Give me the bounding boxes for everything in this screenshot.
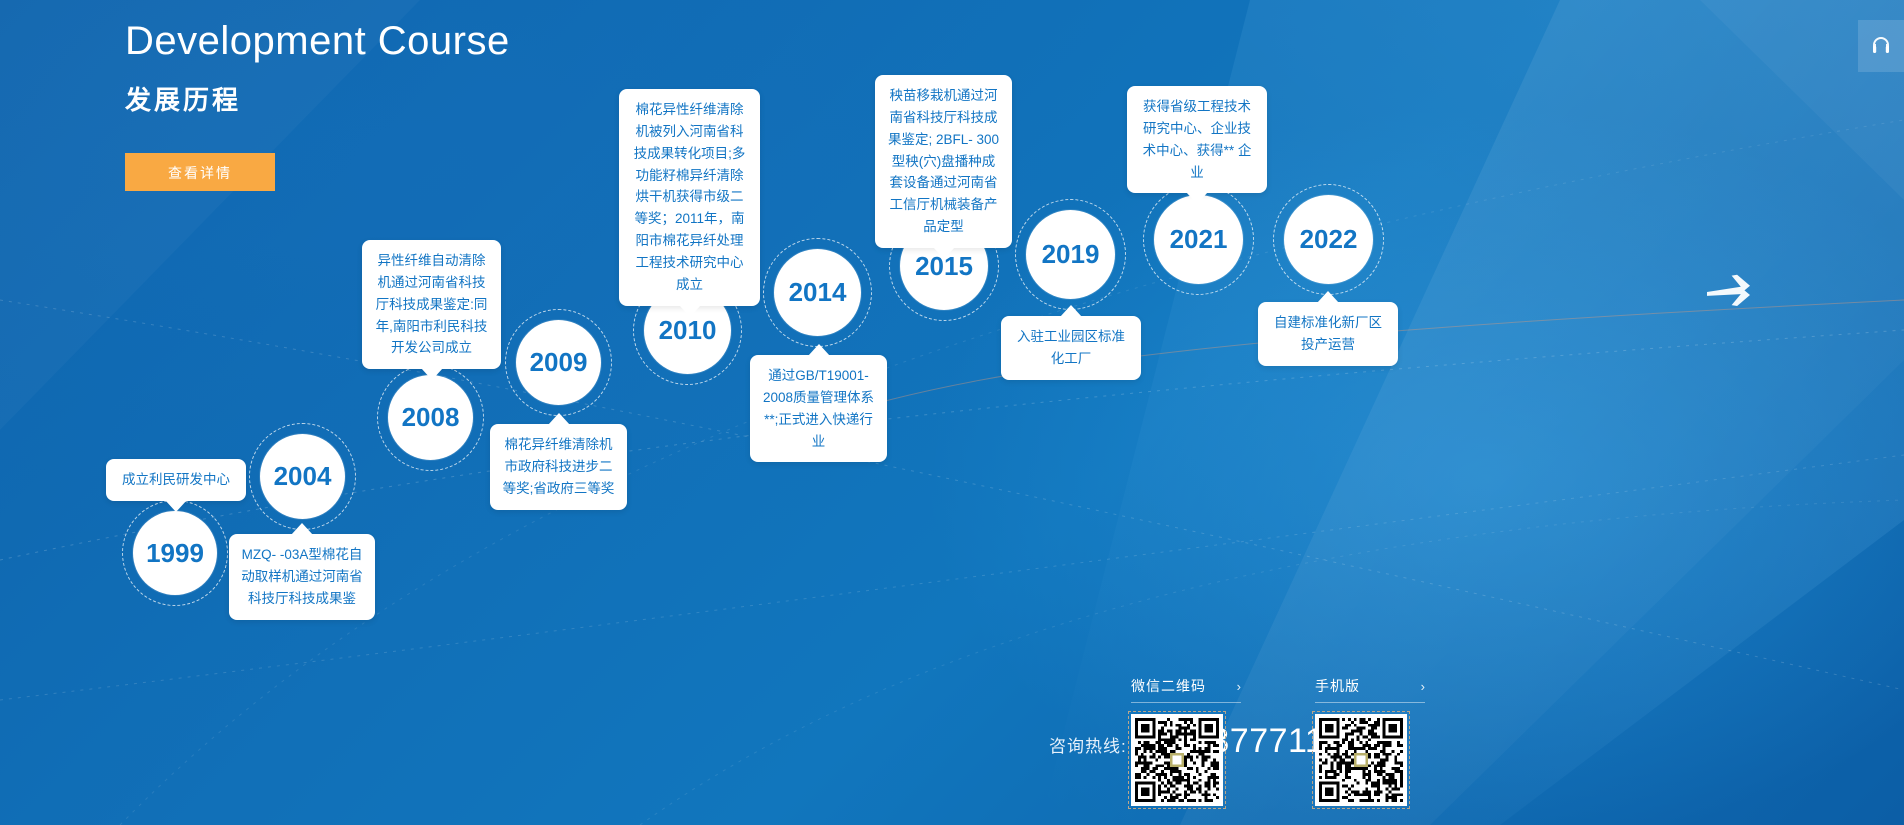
page-title-cn: 发展历程 <box>125 80 510 117</box>
event-card-text: 成立利民研发中心 <box>122 472 230 487</box>
event-card-2021[interactable]: 获得省级工程技术研究中心、企业技术中心、获得** 企业 <box>1127 86 1267 193</box>
year-circle-2014[interactable]: 2014 <box>774 249 861 336</box>
event-card-text: 入驻工业园区标准化工厂 <box>1017 329 1125 366</box>
view-detail-button[interactable]: 查看详情 <box>125 153 275 191</box>
customer-service-button[interactable] <box>1858 20 1904 72</box>
card-pointer <box>1317 291 1339 303</box>
airplane-icon <box>1707 272 1753 317</box>
event-card-2010[interactable]: 棉花异性纤维清除机被列入河南省科技成果转化项目;多功能籽棉异纤清除烘干机获得市级… <box>619 89 760 306</box>
event-card-text: 棉花异性纤维清除机被列入河南省科技成果转化项目;多功能籽棉异纤清除烘干机获得市级… <box>634 102 746 292</box>
event-card-text: 棉花异纤维清除机市政府科技进步二等奖;省政府三等奖 <box>503 437 615 496</box>
event-card-text: MZQ- -03A型棉花自动取样机通过河南省科技厅科技成果鉴 <box>241 547 363 606</box>
card-pointer <box>1186 192 1208 204</box>
qr-code-wechat[interactable] <box>1131 714 1223 806</box>
event-card-2015[interactable]: 秧苗移栽机通过河南省科技厅科技成果鉴定; 2BFL- 300型秧(穴)盘播种成套… <box>875 75 1012 248</box>
year-circle-2008[interactable]: 2008 <box>388 375 473 460</box>
qr-header-wechat[interactable]: 微信二维码 › <box>1131 676 1241 703</box>
event-card-2022[interactable]: 自建标准化新厂区投产运营 <box>1258 302 1398 366</box>
year-circle-2009[interactable]: 2009 <box>516 320 601 405</box>
event-card-text: 获得省级工程技术研究中心、企业技术中心、获得** 企业 <box>1143 99 1252 180</box>
card-pointer <box>548 413 570 425</box>
event-card-2004[interactable]: MZQ- -03A型棉花自动取样机通过河南省科技厅科技成果鉴 <box>229 534 375 620</box>
event-card-2009[interactable]: 棉花异纤维清除机市政府科技进步二等奖;省政府三等奖 <box>490 424 627 510</box>
qr-title-mobile: 手机版 <box>1315 676 1360 696</box>
year-circle-2004[interactable]: 2004 <box>260 434 345 519</box>
event-card-text: 自建标准化新厂区投产运营 <box>1274 315 1382 352</box>
qr-block-mobile: 手机版 › <box>1315 676 1425 806</box>
year-circle-2022[interactable]: 2022 <box>1284 195 1373 284</box>
event-card-2008[interactable]: 异性纤维自动清除机通过河南省科技厅科技成果鉴定:同年,南阳市利民科技开发公司成立 <box>362 240 501 369</box>
headset-icon <box>1869 34 1893 58</box>
event-card-text: 异性纤维自动清除机通过河南省科技厅科技成果鉴定:同年,南阳市利民科技开发公司成立 <box>376 253 488 355</box>
qr-title-wechat: 微信二维码 <box>1131 676 1206 696</box>
year-circle-2021[interactable]: 2021 <box>1154 195 1243 284</box>
event-card-1999[interactable]: 成立利民研发中心 <box>106 459 246 501</box>
chevron-right-icon: › <box>1237 679 1241 694</box>
qr-header-mobile[interactable]: 手机版 › <box>1315 676 1425 703</box>
chevron-right-icon: › <box>1421 679 1425 694</box>
card-pointer <box>1060 305 1082 317</box>
event-card-2014[interactable]: 通过GB/T19001-2008质量管理体系**;正式进入快递行业 <box>750 355 887 462</box>
qr-code-mobile[interactable] <box>1315 714 1407 806</box>
page-root: Development Course 发展历程 查看详情 1999 成立利民研发… <box>0 0 1904 825</box>
card-pointer <box>933 247 955 259</box>
event-card-2019[interactable]: 入驻工业园区标准化工厂 <box>1001 316 1141 380</box>
event-card-text: 通过GB/T19001-2008质量管理体系**;正式进入快递行业 <box>763 368 874 449</box>
card-pointer <box>165 500 187 512</box>
hotline-label: 咨询热线: <box>1049 732 1127 757</box>
card-pointer <box>679 305 701 317</box>
card-pointer <box>421 368 443 380</box>
qr-block-wechat: 微信二维码 › <box>1131 676 1241 806</box>
card-pointer <box>808 344 830 356</box>
year-circle-2019[interactable]: 2019 <box>1026 210 1115 299</box>
year-circle-1999[interactable]: 1999 <box>133 511 217 595</box>
page-title-en: Development Course <box>125 18 510 64</box>
page-header: Development Course 发展历程 查看详情 <box>125 18 510 191</box>
event-card-text: 秧苗移栽机通过河南省科技厅科技成果鉴定; 2BFL- 300型秧(穴)盘播种成套… <box>888 88 999 234</box>
card-pointer <box>291 523 313 535</box>
